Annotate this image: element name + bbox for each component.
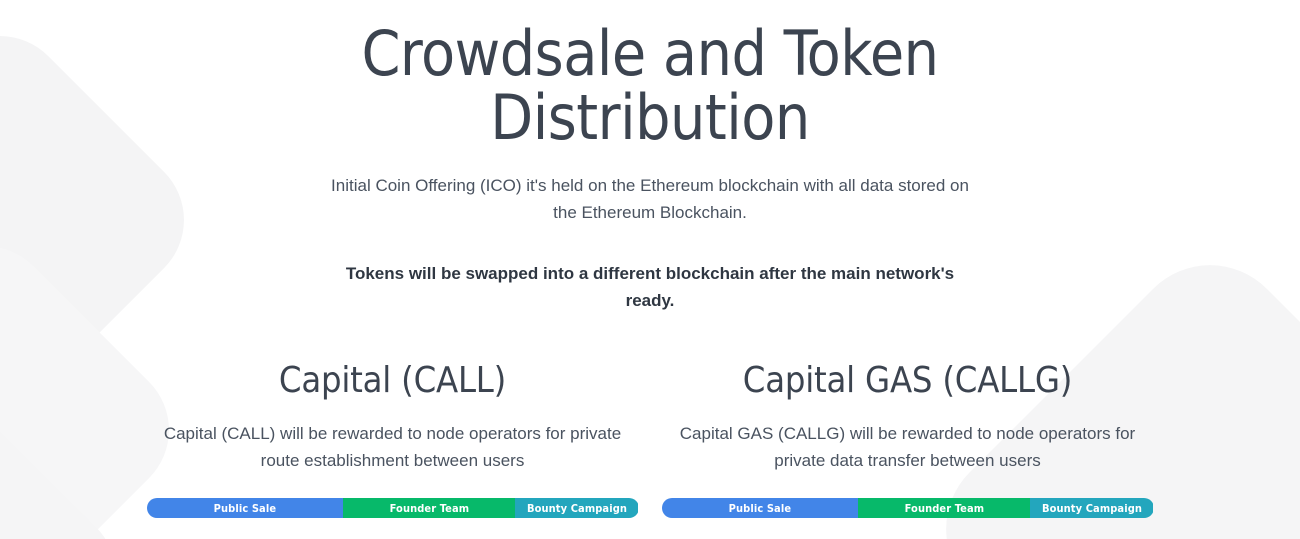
token-description: Capital (CALL) will be rewarded to node …	[158, 420, 628, 474]
segment-founder-team: Founder Team	[858, 498, 1030, 518]
token-description: Capital GAS (CALLG) will be rewarded to …	[673, 420, 1143, 474]
token-title: Capital GAS (CALLG)	[661, 360, 1154, 402]
page-container: Crowdsale and Token Distribution Initial…	[0, 0, 1300, 518]
hero-note: Tokens will be swapped into a different …	[320, 260, 980, 314]
token-column-callg: Capital GAS (CALLG) Capital GAS (CALLG) …	[661, 360, 1154, 518]
token-title: Capital (CALL)	[146, 360, 639, 402]
hero-subtitle: Initial Coin Offering (ICO) it's held on…	[330, 172, 970, 226]
segment-bounty-campaign: Bounty Campaign	[1030, 498, 1153, 518]
page-title: Crowdsale and Token Distribution	[330, 22, 970, 150]
distribution-bar-call: Public Sale Founder Team Bounty Campaign	[147, 498, 639, 518]
hero-section: Crowdsale and Token Distribution Initial…	[0, 0, 1300, 314]
distribution-bar-callg: Public Sale Founder Team Bounty Campaign	[662, 498, 1154, 518]
token-column-call: Capital (CALL) Capital (CALL) will be re…	[146, 360, 639, 518]
segment-public-sale: Public Sale	[662, 498, 859, 518]
token-columns: Capital (CALL) Capital (CALL) will be re…	[0, 360, 1300, 518]
segment-bounty-campaign: Bounty Campaign	[515, 498, 638, 518]
segment-public-sale: Public Sale	[147, 498, 344, 518]
segment-founder-team: Founder Team	[343, 498, 515, 518]
